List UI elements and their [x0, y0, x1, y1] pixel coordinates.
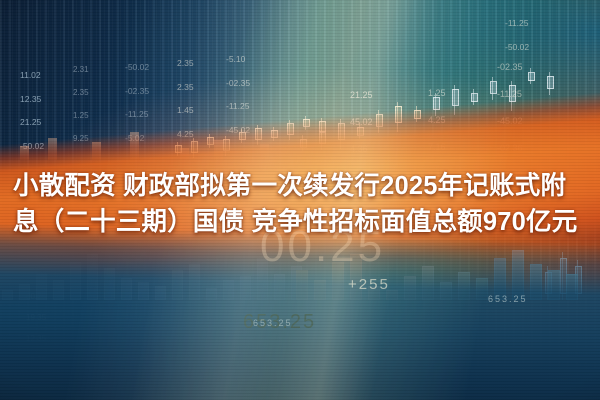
headline-source: 小散配资: [13, 172, 116, 200]
headline-text: 小散配资 财政部拟第一次续发行2025年记账式附息（二十三期）国债 竞争性招标面…: [13, 168, 591, 240]
news-thumbnail: 11.0212.3521.25-50.022.312.351.259.25-50…: [0, 0, 600, 400]
